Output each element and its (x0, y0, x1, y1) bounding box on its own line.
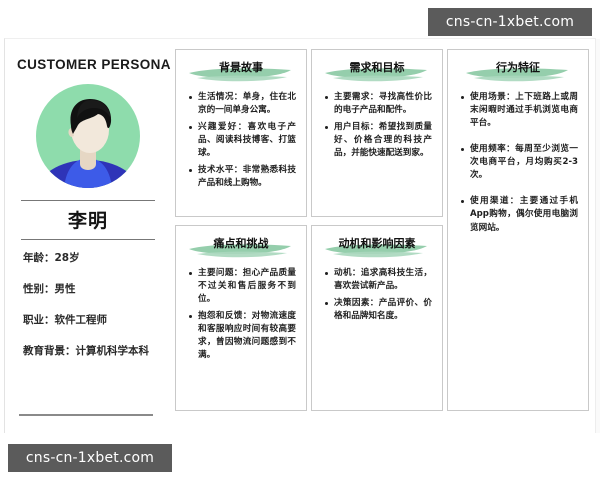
card-header: 行为特征 (456, 59, 580, 85)
persona-sheet: CUSTOMER PERSONA (4, 38, 596, 433)
card-title: 背景故事 (184, 59, 298, 76)
persona-name: 李明 (17, 201, 159, 239)
card-title: 动机和影响因素 (320, 235, 434, 252)
list-item: 生活情况：单身，住在北京的一间单身公寓。 (198, 91, 296, 117)
list-item: 兴趣爱好：喜欢电子产品、阅读科技博客、打篮球。 (198, 121, 296, 160)
card-header: 需求和目标 (320, 59, 434, 85)
card-header: 痛点和挑战 (184, 235, 298, 261)
sidebar-bottom-divider (19, 414, 153, 416)
card-background-story: 背景故事 生活情况：单身，住在北京的一间单身公寓。 兴趣爱好：喜欢电子产品、阅读… (175, 49, 307, 217)
persona-attributes: 年龄：28岁 性别：男性 职业：软件工程师 教育背景：计算机科学本科 (17, 240, 159, 359)
list-item: 决策因素：产品评价、价格和品牌知名度。 (334, 297, 432, 323)
card-bullet-list: 动机：追求高科技生活，喜欢尝试新产品。 决策因素：产品评价、价格和品牌知名度。 (320, 267, 434, 323)
persona-infographic-page: CUSTOMER PERSONA (0, 0, 600, 480)
card-behavior-traits: 行为特征 使用场景：上下班路上或周末闲暇时通过手机浏览电商平台。 使用频率：每周… (447, 49, 589, 411)
list-item: 抱怨和反馈：对物流速度和客服响应时间有较高要求，曾因物流问题感到不满。 (198, 310, 296, 362)
list-item: 主要需求：寻找高性价比的电子产品和配件。 (334, 91, 432, 117)
list-item: 主要问题：担心产品质量不过关和售后服务不到位。 (198, 267, 296, 306)
attribute-occupation: 职业：软件工程师 (23, 314, 157, 327)
attribute-age: 年龄：28岁 (23, 252, 157, 265)
grid-column-1: 背景故事 生活情况：单身，住在北京的一间单身公寓。 兴趣爱好：喜欢电子产品、阅读… (175, 49, 307, 421)
card-bullet-list: 使用场景：上下班路上或周末闲暇时通过手机浏览电商平台。 使用频率：每周至少浏览一… (456, 91, 580, 235)
attribute-gender: 性别：男性 (23, 283, 157, 296)
watermark-bottom-left: cns-cn-1xbet.com (8, 444, 172, 472)
card-bullet-list: 主要需求：寻找高性价比的电子产品和配件。 用户目标：希望找到质量好、价格合理的科… (320, 91, 434, 160)
grid-column-2: 需求和目标 主要需求：寻找高性价比的电子产品和配件。 用户目标：希望找到质量好、… (311, 49, 443, 421)
card-title: 需求和目标 (320, 59, 434, 76)
card-title: 痛点和挑战 (184, 235, 298, 252)
list-item: 使用场景：上下班路上或周末闲暇时通过手机浏览电商平台。 (470, 91, 578, 130)
card-header: 动机和影响因素 (320, 235, 434, 261)
list-item: 技术水平：非常熟悉科技产品和线上购物。 (198, 164, 296, 190)
card-motivation-and-influences: 动机和影响因素 动机：追求高科技生活，喜欢尝试新产品。 决策因素：产品评价、价格… (311, 225, 443, 411)
list-item: 用户目标：希望找到质量好、价格合理的科技产品，并能快速配送到家。 (334, 121, 432, 160)
avatar (34, 82, 142, 190)
card-header: 背景故事 (184, 59, 298, 85)
card-bullet-list: 生活情况：单身，住在北京的一间单身公寓。 兴趣爱好：喜欢电子产品、阅读科技博客、… (184, 91, 298, 190)
persona-sidebar: CUSTOMER PERSONA (5, 39, 171, 434)
list-item: 使用频率：每周至少浏览一次电商平台，月均购买2-3次。 (470, 143, 578, 182)
page-title: CUSTOMER PERSONA (17, 57, 159, 72)
person-avatar-icon (34, 82, 142, 190)
card-bullet-list: 主要问题：担心产品质量不过关和售后服务不到位。 抱怨和反馈：对物流速度和客服响应… (184, 267, 298, 362)
card-title: 行为特征 (456, 59, 580, 76)
grid-column-3: 行为特征 使用场景：上下班路上或周末闲暇时通过手机浏览电商平台。 使用频率：每周… (447, 49, 589, 421)
attribute-education: 教育背景：计算机科学本科 (23, 345, 157, 358)
card-pain-points: 痛点和挑战 主要问题：担心产品质量不过关和售后服务不到位。 抱怨和反馈：对物流速… (175, 225, 307, 411)
persona-card-grid: 背景故事 生活情况：单身，住在北京的一间单身公寓。 兴趣爱好：喜欢电子产品、阅读… (171, 49, 595, 421)
list-item: 动机：追求高科技生活，喜欢尝试新产品。 (334, 267, 432, 293)
list-item: 使用渠道：主要通过手机App购物，偶尔使用电脑浏览网站。 (470, 195, 578, 234)
watermark-top-right: cns-cn-1xbet.com (428, 8, 592, 36)
card-needs-and-goals: 需求和目标 主要需求：寻找高性价比的电子产品和配件。 用户目标：希望找到质量好、… (311, 49, 443, 217)
